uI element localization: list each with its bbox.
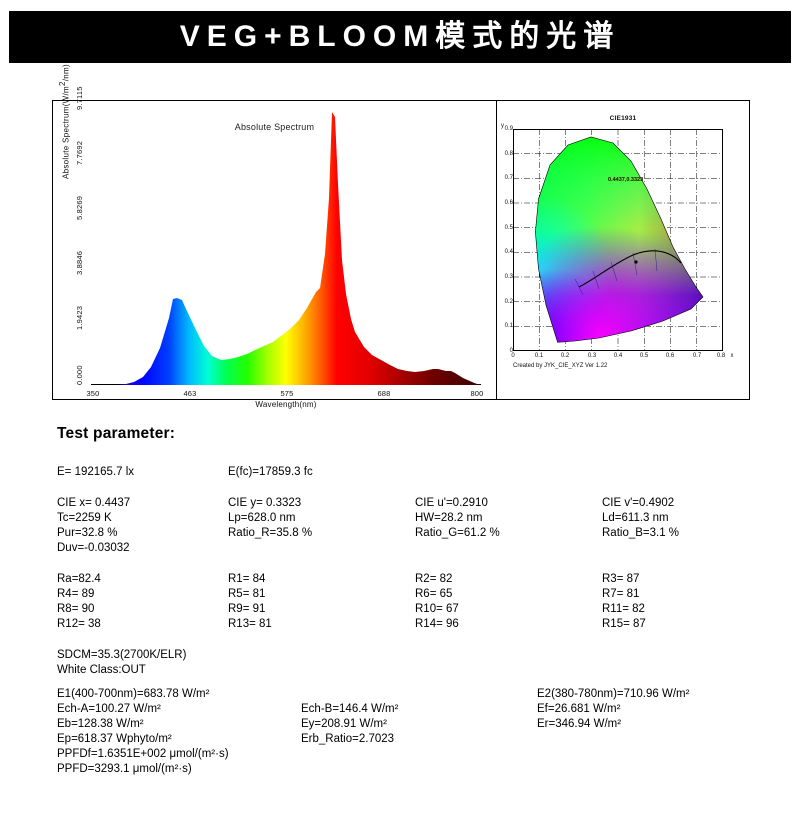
cri-row: R8= 90 R9= 91 R10= 67 R11= 82: [57, 602, 797, 617]
param-cie-u: CIE u'=0.2910: [415, 496, 488, 511]
colorimetry-row: Duv=-0.03032: [57, 541, 797, 556]
cie-x-tick: 0: [511, 353, 514, 359]
cie-plot-area: 0.4437,0.3323: [513, 129, 723, 351]
param-duv: Duv=-0.03032: [57, 541, 130, 556]
param-ld: Ld=611.3 nm: [602, 511, 669, 526]
illuminance-row: E= 192165.7 lx E(fc)=17859.3 fc: [57, 465, 797, 480]
param-r9: R9= 91: [228, 602, 265, 617]
param-r13: R13= 81: [228, 617, 272, 632]
param-ratio-r: Ratio_R=35.8 %: [228, 526, 312, 541]
cie-y-tick: 0.4: [505, 249, 513, 255]
spectrum-x-tick: 688: [377, 389, 390, 398]
cie-chart-title: CIE1931: [497, 115, 749, 122]
test-parameter-heading: Test parameter:: [57, 425, 797, 443]
spectrum-y-tick: 7.7692: [75, 141, 84, 165]
spectrum-y-tick: 0.000: [75, 365, 84, 385]
param-cie-x: CIE x= 0.4437: [57, 496, 130, 511]
spectrum-x-axis-label: Wavelength(nm): [91, 400, 481, 409]
charts-frame: Absolute Spectrum Absolute Spectrum(W/m2…: [52, 100, 750, 400]
energy-row: Ech-A=100.27 W/m² Ech-B=146.4 W/m² Ef=26…: [57, 702, 797, 717]
param-r3: R3= 87: [602, 572, 639, 587]
param-r7: R7= 81: [602, 587, 639, 602]
spectrum-y-ticks: 0.000 1.9423 3.8846 5.8269 7.7692 9.7115: [75, 109, 91, 385]
sdcm-row: SDCM=35.3(2700K/ELR): [57, 648, 797, 663]
cri-row: Ra=82.4 R1= 84 R2= 82 R3= 87: [57, 572, 797, 587]
param-white-class: White Class:OUT: [57, 663, 146, 678]
cie-y-tick: 0.5: [505, 225, 513, 231]
param-hw: HW=28.2 nm: [415, 511, 482, 526]
spectrum-x-tick: 463: [183, 389, 196, 398]
spectrum-y-tick: 9.7115: [75, 86, 84, 110]
param-cie-y: CIE y= 0.3323: [228, 496, 301, 511]
cie-y-tick: 0.2: [505, 299, 513, 305]
param-e2: E2(380-780nm)=710.96 W/m²: [537, 687, 689, 702]
cie-y-tick: 0.6: [505, 200, 513, 206]
param-ppfdf: PPFDf=1.6351E+002 μmol/(m²·s): [57, 747, 229, 762]
colorimetry-row: Tc=2259 K Lp=628.0 nm HW=28.2 nm Ld=611.…: [57, 511, 797, 526]
cie-x-tick: 0.1: [535, 353, 543, 359]
cie-point-coordinate-label: 0.4437,0.3323: [608, 177, 643, 183]
illuminance-lux: E= 192165.7 lx: [57, 465, 134, 480]
cie-y-ticks: 0.9 0.8 0.7 0.6 0.5 0.4 0.3 0.2 0.1 0: [499, 129, 513, 351]
energy-row: E1(400-700nm)=683.78 W/m² E2(380-780nm)=…: [57, 687, 797, 702]
param-er: Er=346.94 W/m²: [537, 717, 621, 732]
param-ech-a: Ech-A=100.27 W/m²: [57, 702, 161, 717]
param-ech-b: Ech-B=146.4 W/m²: [301, 702, 398, 717]
cie-x-tick: 0.6: [666, 353, 674, 359]
param-lp: Lp=628.0 nm: [228, 511, 295, 526]
param-r15: R15= 87: [602, 617, 646, 632]
cie-x-tick: 0.5: [640, 353, 648, 359]
spectrum-x-tick: 800: [470, 389, 483, 398]
param-r2: R2= 82: [415, 572, 452, 587]
cie-x-tick: 0.2: [561, 353, 569, 359]
param-erb-ratio: Erb_Ratio=2.7023: [301, 732, 394, 747]
param-r10: R10= 67: [415, 602, 459, 617]
cie-gamut: [513, 129, 723, 351]
cie-x-tick: 0.3: [588, 353, 596, 359]
param-ef: Ef=26.681 W/m²: [537, 702, 620, 717]
cie-x-tick: 0.7: [693, 353, 701, 359]
param-ey: Ey=208.91 W/m²: [301, 717, 387, 732]
cie-y-tick: 0.9: [505, 126, 513, 132]
cie-y-tick: 0.8: [505, 151, 513, 157]
cri-row: R4= 89 R5= 81 R6= 65 R7= 81: [57, 587, 797, 602]
cie-diagram-panel: CIE1931 y 0.9 0.8 0.7 0.6 0.5 0.4 0.3 0.…: [496, 101, 749, 399]
param-r8: R8= 90: [57, 602, 94, 617]
spectrum-plot-area: [91, 109, 481, 385]
illuminance-fc: E(fc)=17859.3 fc: [228, 465, 313, 480]
spectrum-curve: [91, 109, 481, 385]
page-header-banner: VEG+BLOOM模式的光谱: [9, 11, 791, 63]
spectrum-y-tick: 5.8269: [75, 196, 84, 220]
white-class-row: White Class:OUT: [57, 663, 797, 678]
param-ppfd: PPFD=3293.1 μmol/(m²·s): [57, 762, 192, 777]
param-r5: R5= 81: [228, 587, 265, 602]
param-e1: E1(400-700nm)=683.78 W/m²: [57, 687, 209, 702]
colorimetry-row: CIE x= 0.4437 CIE y= 0.3323 CIE u'=0.291…: [57, 496, 797, 511]
param-r12: R12= 38: [57, 617, 101, 632]
cie-y-tick: 0.7: [505, 175, 513, 181]
page-title: VEG+BLOOM模式的光谱: [180, 22, 621, 52]
cri-row: R12= 38 R13= 81 R14= 96 R15= 87: [57, 617, 797, 632]
spectrum-x-tick: 575: [280, 389, 293, 398]
colorimetry-row: Pur=32.8 % Ratio_R=35.8 % Ratio_G=61.2 %…: [57, 526, 797, 541]
spectrum-x-tick: 350: [86, 389, 99, 398]
cie-x-tick: 0.4: [614, 353, 622, 359]
param-r6: R6= 65: [415, 587, 452, 602]
test-parameters-section: Test parameter: E= 192165.7 lx E(fc)=178…: [57, 425, 797, 777]
param-ep: Ep=618.37 Wphyto/m²: [57, 732, 172, 747]
param-r4: R4= 89: [57, 587, 94, 602]
cie-x-ticks: 0 0.1 0.2 0.3 0.4 0.5 0.6 0.7 0.8 x: [513, 353, 729, 363]
param-ra: Ra=82.4: [57, 572, 101, 587]
spectrum-y-tick: 3.8846: [75, 251, 84, 275]
cie-x-tick: 0.8: [717, 353, 725, 359]
param-r14: R14= 96: [415, 617, 459, 632]
energy-row: PPFD=3293.1 μmol/(m²·s): [57, 762, 797, 777]
cie-y-tick: 0.3: [505, 274, 513, 280]
param-r11: R11= 82: [602, 602, 645, 617]
param-tc: Tc=2259 K: [57, 511, 112, 526]
param-eb: Eb=128.38 W/m²: [57, 717, 144, 732]
cie-x-axis-name: x: [731, 353, 734, 359]
absolute-spectrum-panel: Absolute Spectrum Absolute Spectrum(W/m2…: [53, 101, 496, 399]
param-ratio-b: Ratio_B=3.1 %: [602, 526, 679, 541]
energy-row: PPFDf=1.6351E+002 μmol/(m²·s): [57, 747, 797, 762]
param-sdcm: SDCM=35.3(2700K/ELR): [57, 648, 186, 663]
param-cie-v: CIE v'=0.4902: [602, 496, 674, 511]
param-pur: Pur=32.8 %: [57, 526, 117, 541]
energy-row: Ep=618.37 Wphyto/m² Erb_Ratio=2.7023: [57, 732, 797, 747]
param-ratio-g: Ratio_G=61.2 %: [415, 526, 500, 541]
cie-credit-text: Created by JYK_CIE_XYZ Ver 1.22: [513, 363, 607, 369]
spectrum-y-tick: 1.9423: [75, 306, 84, 330]
cie-y-tick: 0.1: [505, 323, 513, 329]
energy-row: Eb=128.38 W/m² Ey=208.91 W/m² Er=346.94 …: [57, 717, 797, 732]
spectrum-y-axis-label: Absolute Spectrum(W/m2/nm): [58, 64, 71, 179]
param-r1: R1= 84: [228, 572, 265, 587]
